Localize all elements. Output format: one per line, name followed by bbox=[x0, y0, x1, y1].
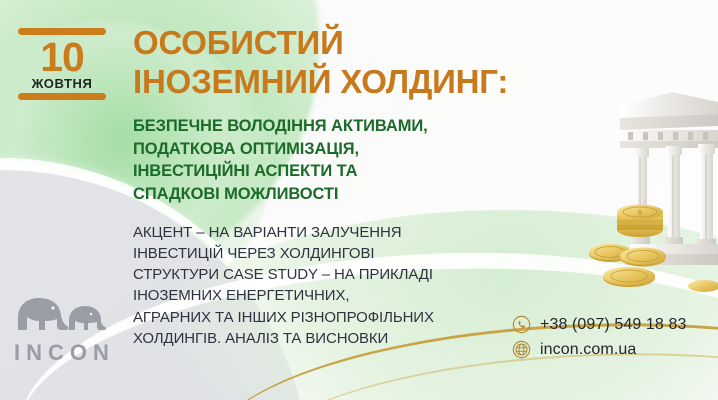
subtitle-line: БЕЗПЕЧНЕ ВОЛОДІННЯ АКТИВАМИ, bbox=[133, 115, 563, 138]
contact-website-row[interactable]: incon.com.ua bbox=[512, 337, 686, 362]
subtitle-line: СПАДКОВІ МОЖЛИВОСТІ bbox=[133, 183, 563, 206]
subtitle-line: ІНВЕСТИЦІЙНІ АСПЕКТИ ТА bbox=[133, 160, 563, 183]
bank-coins-graphic: $ bbox=[586, 44, 718, 294]
incon-logo: INCON bbox=[12, 288, 120, 366]
body-line: ІНВЕСТИЦІЙ ЧЕРЕЗ ХОЛДИНГОВІ bbox=[133, 243, 563, 264]
date-day: 10 bbox=[18, 36, 106, 79]
globe-circle-icon bbox=[512, 340, 531, 359]
body-line: АГРАРНИХ ТА ІНШИХ РІЗНОПРОФІЛЬНИХ bbox=[133, 307, 563, 328]
phone-circle-icon bbox=[512, 315, 531, 334]
body-line: СТРУКТУРИ CASE STUDY – НА ПРИКЛАДІ bbox=[133, 264, 563, 285]
title-line: ОСОБИСТИЙ bbox=[133, 24, 563, 63]
contact-block: +38 (097) 549 18 83 incon.com.ua bbox=[512, 312, 686, 362]
phone-number: +38 (097) 549 18 83 bbox=[540, 316, 686, 334]
date-rule-bottom bbox=[18, 93, 106, 100]
promo-banner: 10 ЖОВТНЯ ОСОБИСТИЙ ІНОЗЕМНИЙ ХОЛДИНГ: Б… bbox=[0, 0, 718, 400]
website-url: incon.com.ua bbox=[540, 341, 636, 359]
body-line: ХОЛДИНГІВ. АНАЛІЗ ТА ВИСНОВКИ bbox=[133, 328, 563, 349]
bank-building-with-gold-coins-illustration: $ bbox=[586, 44, 718, 294]
content-column: ОСОБИСТИЙ ІНОЗЕМНИЙ ХОЛДИНГ: БЕЗПЕЧНЕ ВО… bbox=[133, 24, 563, 349]
body-line: ІНОЗЕМНИХ ЕНЕРГЕТИЧНИХ, bbox=[133, 285, 563, 306]
logo-wordmark: INCON bbox=[14, 340, 120, 366]
subtitle-line: ПОДАТКОВА ОПТИМІЗАЦІЯ, bbox=[133, 138, 563, 161]
title-line: ІНОЗЕМНИЙ ХОЛДИНГ: bbox=[133, 63, 563, 102]
two-elephants-icon bbox=[12, 288, 120, 334]
date-badge: 10 ЖОВТНЯ bbox=[18, 28, 106, 100]
svg-text:$: $ bbox=[638, 210, 642, 217]
body-description: АКЦЕНТ – НА ВАРІАНТИ ЗАЛУЧЕННЯ ІНВЕСТИЦІ… bbox=[133, 222, 563, 350]
subtitle: БЕЗПЕЧНЕ ВОЛОДІННЯ АКТИВАМИ, ПОДАТКОВА О… bbox=[133, 115, 563, 205]
page-title: ОСОБИСТИЙ ІНОЗЕМНИЙ ХОЛДИНГ: bbox=[133, 24, 563, 101]
date-month: ЖОВТНЯ bbox=[18, 76, 106, 91]
body-line: АКЦЕНТ – НА ВАРІАНТИ ЗАЛУЧЕННЯ bbox=[133, 222, 563, 243]
contact-phone-row[interactable]: +38 (097) 549 18 83 bbox=[512, 312, 686, 337]
